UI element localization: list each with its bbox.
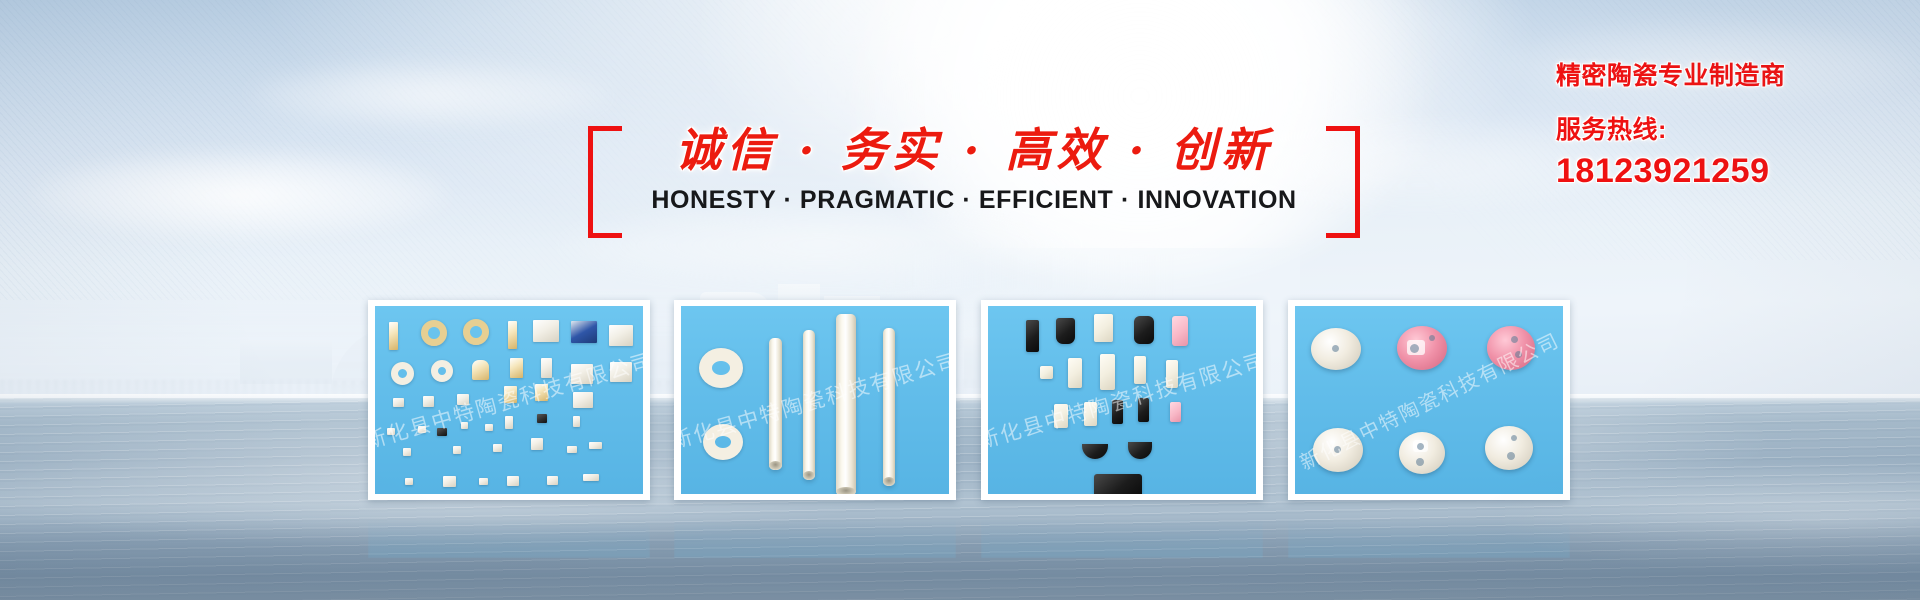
hotline-number[interactable]: 18123921259 xyxy=(1556,152,1896,191)
product-panel-ceramic-blocks[interactable]: 新化县中特陶瓷科技有限公司 xyxy=(981,300,1263,500)
panel-reflection xyxy=(1288,512,1570,558)
company-tagline: 精密陶瓷专业制造商 xyxy=(1556,56,1896,92)
product-panel-smd-ceramic-components[interactable]: 新化县中特陶瓷科技有限公司 xyxy=(368,300,650,500)
product-panel-row: 新化县中特陶瓷科技有限公司 新化县中特陶瓷科技有限公司 xyxy=(0,300,1920,510)
panel-reflection xyxy=(674,512,956,558)
cloud xyxy=(250,60,610,130)
panel-reflection xyxy=(368,512,650,558)
product-panel-ceramic-discs[interactable]: 新化县中特陶瓷科技有限公司 xyxy=(1288,300,1570,500)
slogan-block: 诚信 · 务实 · 高效 · 创新 HONESTY · PRAGMATIC · … xyxy=(588,126,1360,238)
contact-block: 精密陶瓷专业制造商 服务热线: 18123921259 xyxy=(1556,56,1896,191)
slogan-chinese: 诚信 · 务实 · 高效 · 创新 xyxy=(675,114,1272,180)
bracket-right-icon xyxy=(1326,126,1360,238)
product-panel-ceramic-tubes-rings[interactable]: 新化县中特陶瓷科技有限公司 xyxy=(674,300,956,500)
cloud xyxy=(30,150,450,240)
hero-banner: 诚信 · 务实 · 高效 · 创新 HONESTY · PRAGMATIC · … xyxy=(0,0,1920,600)
ground-shadow xyxy=(0,518,1920,600)
slogan-english: HONESTY · PRAGMATIC · EFFICIENT · INNOVA… xyxy=(651,186,1296,215)
bracket-left-icon xyxy=(588,126,622,238)
panel-reflection xyxy=(981,512,1263,558)
hotline-label: 服务热线: xyxy=(1556,110,1896,146)
